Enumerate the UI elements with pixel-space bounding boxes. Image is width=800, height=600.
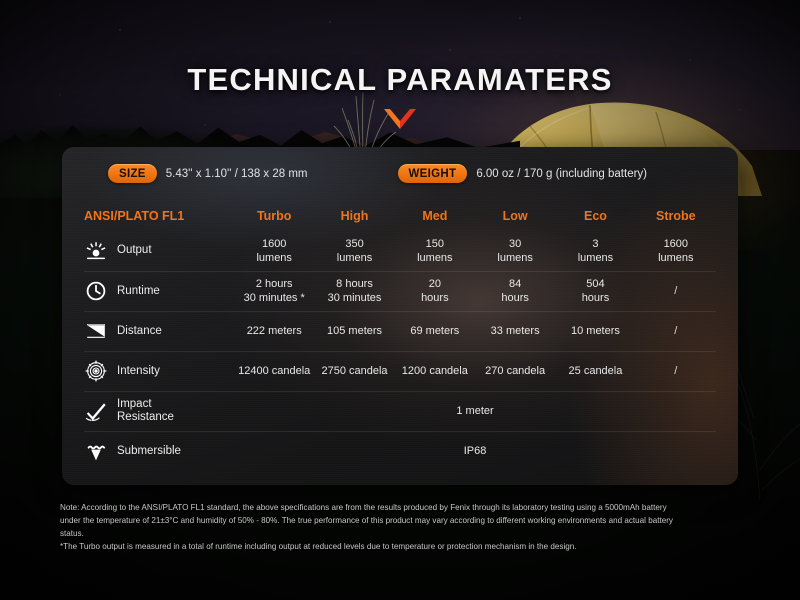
spec-panel: SIZE 5.43'' x 1.10'' / 138 x 28 mm WEIGH… xyxy=(62,147,738,485)
weight-meta-group: WEIGHT 6.00 oz / 170 g (including batter… xyxy=(398,164,647,183)
row-label-text: Intensity xyxy=(117,365,160,378)
row-value-cell: 105 meters xyxy=(314,311,394,351)
row-value-cell: 2 hours30 minutes * xyxy=(234,271,314,311)
table-header-eco: Eco xyxy=(555,200,635,231)
row-value-cell: 10 meters xyxy=(555,311,635,351)
sunburst-icon xyxy=(84,239,108,263)
row-value-cell: 1200 candela xyxy=(395,351,475,391)
table-body: Output1600lumens350lumens150lumens30lume… xyxy=(84,231,716,471)
footer-note-line-4: *The Turbo output is measured in a total… xyxy=(60,540,760,553)
hero-title-block: TECHNICAL PARAMATERS xyxy=(0,62,800,130)
row-value-cell: 3lumens xyxy=(555,231,635,271)
row-label-text: Distance xyxy=(117,325,162,338)
chevron-down-icon xyxy=(382,108,418,130)
row-value-cell: 1600lumens xyxy=(234,231,314,271)
size-badge: SIZE xyxy=(108,164,157,183)
row-value-cell: 69 meters xyxy=(395,311,475,351)
row-value-cell: 150lumens xyxy=(395,231,475,271)
page-title: TECHNICAL PARAMATERS xyxy=(0,62,800,98)
row-value-cell: 8 hours30 minutes xyxy=(314,271,394,311)
table-row: SubmersibleIP68 xyxy=(84,431,716,471)
water-drop-icon xyxy=(84,439,108,463)
row-label-cell: Intensity xyxy=(84,351,234,391)
row-label-text: Submersible xyxy=(117,445,181,458)
row-value-cell: 30lumens xyxy=(475,231,555,271)
row-value-cell: 270 candela xyxy=(475,351,555,391)
row-value-cell: 222 meters xyxy=(234,311,314,351)
row-value-cell: 1600lumens xyxy=(636,231,716,271)
row-label-text: ImpactResistance xyxy=(117,398,174,424)
size-meta-group: SIZE 5.43'' x 1.10'' / 138 x 28 mm xyxy=(108,164,308,183)
table-row: Intensity12400 candela2750 candela1200 c… xyxy=(84,351,716,391)
row-label-cell: Distance xyxy=(84,311,234,351)
table-row: Runtime2 hours30 minutes *8 hours30 minu… xyxy=(84,271,716,311)
table-row: ImpactResistance1 meter xyxy=(84,391,716,431)
row-value-cell: 84hours xyxy=(475,271,555,311)
row-merged-value: IP68 xyxy=(234,431,716,471)
row-label-cell: ImpactResistance xyxy=(84,391,234,431)
row-label-text: Runtime xyxy=(117,285,160,298)
row-value-cell: 350lumens xyxy=(314,231,394,271)
row-label-cell: Runtime xyxy=(84,271,234,311)
table-header-med: Med xyxy=(395,200,475,231)
row-value-cell: 2750 candela xyxy=(314,351,394,391)
weight-badge: WEIGHT xyxy=(398,164,468,183)
row-value-cell: / xyxy=(636,351,716,391)
row-value-cell: 20hours xyxy=(395,271,475,311)
row-label-cell: Submersible xyxy=(84,431,234,471)
table-header-high: High xyxy=(314,200,394,231)
table-header: ANSI/PLATO FL1 Turbo High Med Low Eco St… xyxy=(84,200,716,231)
size-value: 5.43'' x 1.10'' / 138 x 28 mm xyxy=(166,168,308,180)
row-value-cell: / xyxy=(636,311,716,351)
page-root: TECHNICAL PARAMATERS SIZE 5.43'' x 1.10'… xyxy=(0,0,800,600)
footer-note-line-3: status. xyxy=(60,527,760,540)
panel-meta-row: SIZE 5.43'' x 1.10'' / 138 x 28 mm WEIGH… xyxy=(62,147,738,200)
row-value-cell: 12400 candela xyxy=(234,351,314,391)
row-merged-value: 1 meter xyxy=(234,391,716,431)
impact-check-icon xyxy=(84,399,108,423)
table-header-row: ANSI/PLATO FL1 Turbo High Med Low Eco St… xyxy=(84,200,716,231)
clock-icon xyxy=(84,279,108,303)
row-value-cell: 33 meters xyxy=(475,311,555,351)
footer-note-line-1: Note: According to the ANSI/PLATO FL1 st… xyxy=(60,501,760,514)
row-value-cell: / xyxy=(636,271,716,311)
row-value-cell: 25 candela xyxy=(555,351,635,391)
table-row: Distance222 meters105 meters69 meters33 … xyxy=(84,311,716,351)
beam-distance-icon xyxy=(84,319,108,343)
footer-note-line-2: under the temperature of 21±3°C and humi… xyxy=(60,514,760,527)
table-row: Output1600lumens350lumens150lumens30lume… xyxy=(84,231,716,271)
row-label-text: Output xyxy=(117,244,152,257)
table-header-turbo: Turbo xyxy=(234,200,314,231)
table-header-low: Low xyxy=(475,200,555,231)
weight-value: 6.00 oz / 170 g (including battery) xyxy=(476,168,647,180)
row-label-cell: Output xyxy=(84,231,234,271)
table-header-strobe: Strobe xyxy=(636,200,716,231)
target-intensity-icon xyxy=(84,359,108,383)
row-value-cell: 504hours xyxy=(555,271,635,311)
specifications-table: ANSI/PLATO FL1 Turbo High Med Low Eco St… xyxy=(84,200,716,471)
footer-note: Note: According to the ANSI/PLATO FL1 st… xyxy=(60,501,760,553)
table-header-standard: ANSI/PLATO FL1 xyxy=(84,200,234,231)
